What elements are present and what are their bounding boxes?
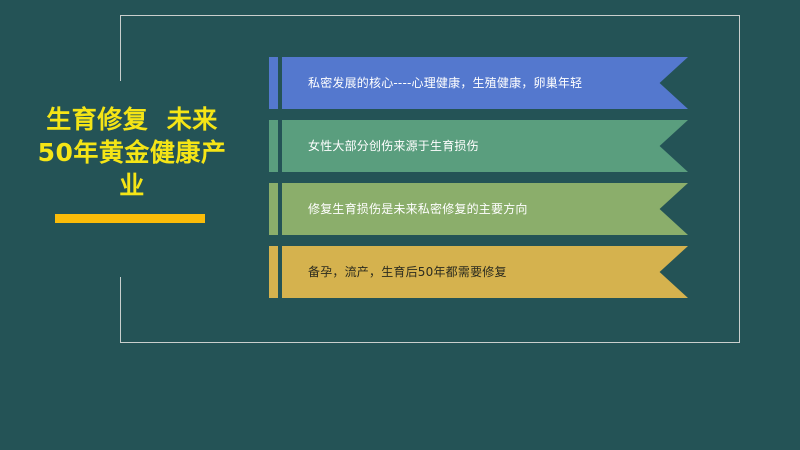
banner-accent-bar	[269, 246, 278, 298]
decorative-frame-left-edge-upper	[120, 15, 121, 81]
slide-title-block: 生育修复 未来50年黄金健康产业	[34, 103, 230, 202]
slide-title: 生育修复 未来50年黄金健康产业	[34, 103, 230, 202]
banner-label: 女性大部分创伤来源于生育损伤	[282, 137, 479, 155]
decorative-frame-top-edge	[120, 15, 740, 16]
decorative-frame-left-edge-lower	[120, 277, 121, 343]
banner-accent-bar	[269, 183, 278, 235]
presentation-slide: 生育修复 未来50年黄金健康产业 私密发展的核心----心理健康，生殖健康，卵巢…	[0, 0, 800, 450]
banner-label: 备孕，流产，生育后50年都需要修复	[282, 263, 507, 281]
banner-label: 私密发展的核心----心理健康，生殖健康，卵巢年轻	[282, 74, 582, 92]
banner-accent-bar	[269, 57, 278, 109]
decorative-frame-bottom-edge	[120, 342, 740, 343]
banner-body[interactable]: 私密发展的核心----心理健康，生殖健康，卵巢年轻	[282, 57, 688, 109]
banner-label: 修复生育损伤是未来私密修复的主要方向	[282, 200, 528, 218]
title-underline-bar	[55, 214, 205, 223]
banner-body[interactable]: 备孕，流产，生育后50年都需要修复	[282, 246, 688, 298]
banner-body[interactable]: 修复生育损伤是未来私密修复的主要方向	[282, 183, 688, 235]
decorative-frame-right-edge	[739, 15, 740, 343]
banner-accent-bar	[269, 120, 278, 172]
banner-body[interactable]: 女性大部分创伤来源于生育损伤	[282, 120, 688, 172]
